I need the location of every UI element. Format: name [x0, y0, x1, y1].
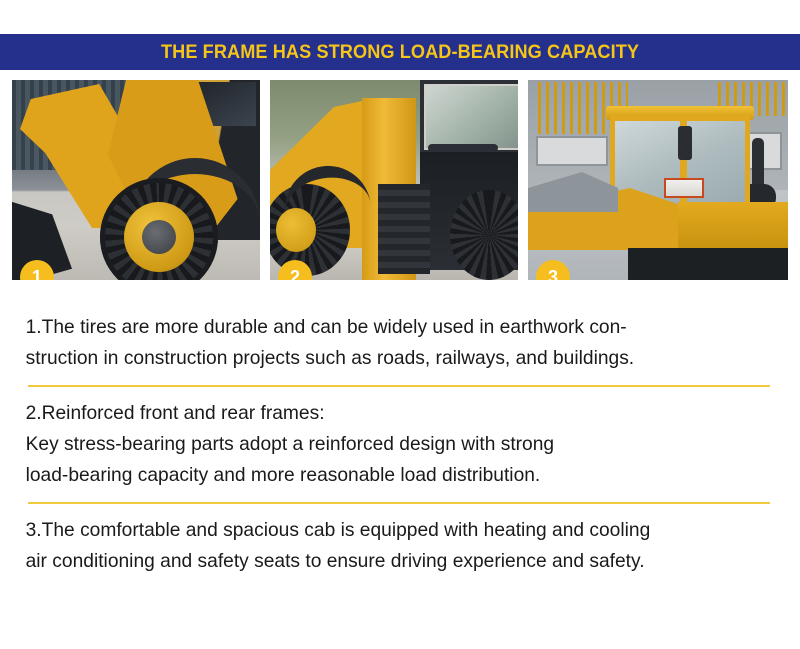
- feature-paragraph-tires: 1.The tires are more durable and can be …: [0, 312, 788, 374]
- section-divider: [28, 502, 770, 504]
- loader-side-illustration: [270, 80, 518, 280]
- paragraph-line: 1.The tires are more durable and can be …: [26, 312, 763, 343]
- product-feature-panel: THE FRAME HAS STRONG LOAD-BEARING CAPACI…: [0, 0, 800, 649]
- gallery-photo-2[interactable]: 2: [270, 80, 518, 280]
- paragraph-line: Key stress-bearing parts adopt a reinfor…: [26, 429, 763, 460]
- section-banner: THE FRAME HAS STRONG LOAD-BEARING CAPACI…: [0, 34, 800, 70]
- gallery-photo-3[interactable]: 3: [528, 80, 788, 280]
- paragraph-line: 3.The comfortable and spacious cab is eq…: [26, 515, 763, 546]
- feature-description-list: 1.The tires are more durable and can be …: [0, 300, 800, 577]
- paragraph-line: air conditioning and safety seats to ens…: [26, 546, 763, 577]
- section-divider: [28, 385, 770, 387]
- image-gallery: 1 2: [12, 80, 788, 280]
- gallery-photo-1[interactable]: 1: [12, 80, 260, 280]
- paragraph-line: struction in construction projects such …: [26, 343, 763, 374]
- loader-tire-illustration: [12, 80, 260, 280]
- paragraph-line: 2.Reinforced front and rear frames:: [26, 398, 763, 429]
- operator-cab-illustration: [528, 80, 788, 280]
- banner-title: THE FRAME HAS STRONG LOAD-BEARING CAPACI…: [161, 41, 639, 64]
- paragraph-line: load-bearing capacity and more reasonabl…: [26, 460, 763, 491]
- feature-paragraph-frames: 2.Reinforced front and rear frames: Key …: [0, 398, 788, 491]
- feature-paragraph-cab: 3.The comfortable and spacious cab is eq…: [0, 515, 788, 577]
